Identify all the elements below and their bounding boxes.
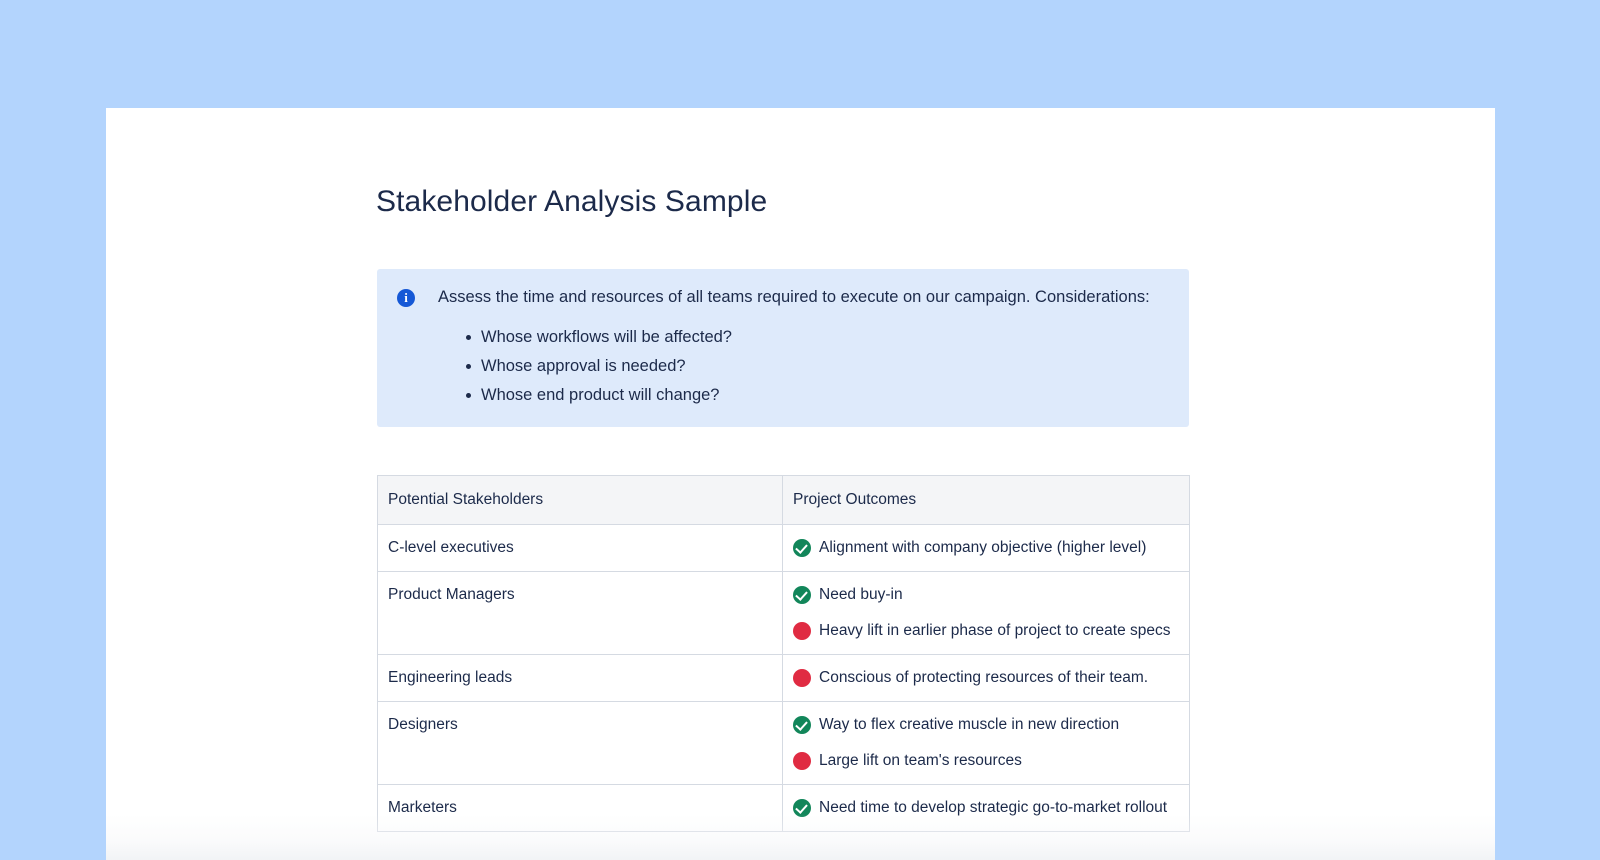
stakeholder-name: C-level executives <box>378 525 783 572</box>
document-content: Stakeholder Analysis Sample i Assess the… <box>377 108 1189 832</box>
table-row: Designers Way to flex creative muscle in… <box>378 702 1190 785</box>
table-row: Marketers Need time to develop strategic… <box>378 785 1190 832</box>
info-callout-lead-text: Assess the time and resources of all tea… <box>438 285 1169 309</box>
outcome-item: Way to flex creative muscle in new direc… <box>793 715 1179 735</box>
page-title: Stakeholder Analysis Sample <box>376 184 1189 220</box>
document-card: Stakeholder Analysis Sample i Assess the… <box>106 108 1495 860</box>
outcome-cell: Need time to develop strategic go-to-mar… <box>783 785 1190 832</box>
outcome-cell: Conscious of protecting resources of the… <box>783 655 1190 702</box>
stakeholder-name: Product Managers <box>378 572 783 655</box>
outcome-cell: Alignment with company objective (higher… <box>783 525 1190 572</box>
check-circle-icon <box>793 799 811 817</box>
stakeholder-name: Marketers <box>378 785 783 832</box>
stakeholder-name: Designers <box>378 702 783 785</box>
outcome-text: Alignment with company objective (higher… <box>819 538 1146 558</box>
check-circle-icon <box>793 586 811 604</box>
outcome-text: Need buy-in <box>819 585 903 605</box>
info-callout-panel: i Assess the time and resources of all t… <box>377 269 1189 427</box>
column-header-stakeholders: Potential Stakeholders <box>378 476 783 525</box>
red-dot-icon <box>793 752 811 770</box>
outcome-item: Alignment with company objective (higher… <box>793 538 1179 558</box>
viewport: Stakeholder Analysis Sample i Assess the… <box>0 0 1600 860</box>
outcome-item: Heavy lift in earlier phase of project t… <box>793 621 1179 641</box>
outcome-item: Need buy-in <box>793 585 1179 605</box>
outcome-cell: Need buy-in Heavy lift in earlier phase … <box>783 572 1190 655</box>
list-item: Whose end product will change? <box>438 383 1169 407</box>
check-circle-icon <box>793 539 811 557</box>
outcome-text: Heavy lift in earlier phase of project t… <box>819 621 1171 641</box>
table-row: C-level executives Alignment with compan… <box>378 525 1190 572</box>
outcome-cell: Way to flex creative muscle in new direc… <box>783 702 1190 785</box>
stakeholder-name: Engineering leads <box>378 655 783 702</box>
check-circle-icon <box>793 716 811 734</box>
outcome-text: Large lift on team's resources <box>819 751 1022 771</box>
outcome-text: Way to flex creative muscle in new direc… <box>819 715 1119 735</box>
list-item: Whose approval is needed? <box>438 354 1169 378</box>
table-row: Engineering leads Conscious of protectin… <box>378 655 1190 702</box>
outcome-item: Conscious of protecting resources of the… <box>793 668 1179 688</box>
outcome-text: Conscious of protecting resources of the… <box>819 668 1148 688</box>
stakeholder-analysis-table: Potential Stakeholders Project Outcomes … <box>377 475 1190 832</box>
table-header-row: Potential Stakeholders Project Outcomes <box>378 476 1190 525</box>
column-header-outcomes: Project Outcomes <box>783 476 1190 525</box>
outcome-item: Large lift on team's resources <box>793 751 1179 771</box>
red-dot-icon <box>793 622 811 640</box>
info-callout-body: Assess the time and resources of all tea… <box>438 285 1169 407</box>
info-icon: i <box>397 289 415 307</box>
outcome-item: Need time to develop strategic go-to-mar… <box>793 798 1179 818</box>
list-item: Whose workflows will be affected? <box>438 325 1169 349</box>
red-dot-icon <box>793 669 811 687</box>
info-callout-list: Whose workflows will be affected? Whose … <box>438 325 1169 407</box>
outcome-text: Need time to develop strategic go-to-mar… <box>819 798 1167 818</box>
stakeholder-table-wrapper: Potential Stakeholders Project Outcomes … <box>377 475 1189 832</box>
table-row: Product Managers Need buy-in Heavy lift … <box>378 572 1190 655</box>
